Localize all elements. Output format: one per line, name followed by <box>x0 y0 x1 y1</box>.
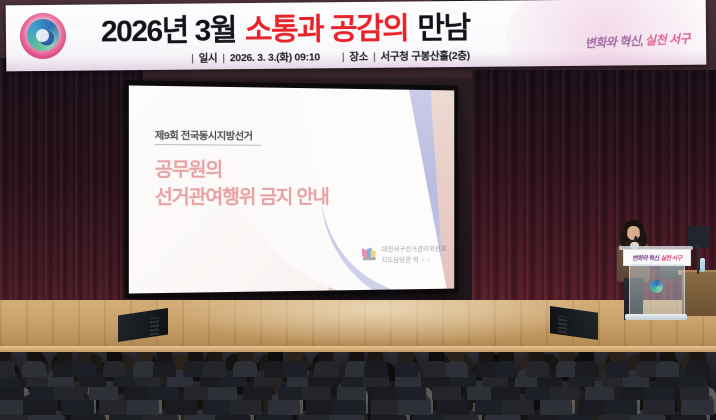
audience-member-shoulders <box>575 361 599 377</box>
slide-rule <box>155 144 261 146</box>
audience-member-shoulders <box>283 361 307 377</box>
audience-member-shoulders <box>0 361 15 377</box>
audience-member-shoulders <box>153 361 177 377</box>
banner-date-value: 2026. 3. 3.(화) 09:10 <box>230 49 320 65</box>
event-banner: 2026년 3월 소통과 공감의 만남 | 일시 | 2026. 3. 3.(화… <box>6 0 707 71</box>
slide-credit-person: 지도담당관 박 ○ ○ <box>381 254 446 265</box>
audience-member-shoulders <box>445 361 469 377</box>
audience-area <box>0 352 716 420</box>
audience-member-shoulders <box>233 361 257 377</box>
stage-equipment-case <box>688 226 710 248</box>
podium-sign-part1: 변화와 혁신, <box>632 253 659 262</box>
banner-slogan: 변화와 혁신, 실천 서구 <box>571 23 690 58</box>
audience-member-shoulders <box>314 361 338 377</box>
audience-member-shoulders <box>686 361 710 377</box>
slide-title: 공무원의 선거관여행위 금지 안내 <box>155 157 405 212</box>
audience-member-shoulders <box>656 361 680 377</box>
monitor-grill <box>150 317 159 336</box>
projection-screen-frame: 제9회 전국동시지방선거 공무원의 선거관여행위 금지 안내 대전서구선거관리위… <box>125 80 458 298</box>
banner-slogan-part1: 변화와 혁신, <box>584 31 643 51</box>
banner-divider: | <box>191 53 194 65</box>
banner-divider: | <box>342 51 345 63</box>
slide-title-line2: 선거관여행위 금지 안내 <box>155 185 405 213</box>
stage-curtain-left <box>0 58 143 330</box>
banner-subline: | 일시 | 2026. 3. 3.(화) 09:10 | 장소 | 서구청 구… <box>191 48 470 66</box>
banner-title-part-1: 2026년 3월 <box>101 5 236 50</box>
banner-divider: | <box>373 51 376 63</box>
water-bottle <box>700 258 705 272</box>
monitor-grill <box>558 315 567 334</box>
audience-member-shoulders <box>72 361 96 377</box>
audience-member-shoulders <box>364 361 388 377</box>
banner-divider: | <box>222 52 225 64</box>
stage-light-pool <box>170 300 590 346</box>
audience-member-shoulders <box>22 361 46 377</box>
audience-member-shoulders <box>395 361 419 377</box>
banner-title-part-2: 소통과 공감의 <box>245 3 409 49</box>
projection-screen: 제9회 전국동시지방선거 공무원의 선거관여행위 금지 안내 대전서구선거관리위… <box>129 85 454 293</box>
podium: 변화와 혁신, 실천 서구 <box>623 246 689 320</box>
banner-place-value: 서구청 구봉산홀(2층) <box>380 48 470 64</box>
audience-member-shoulders <box>606 361 630 377</box>
auditorium-scene: 제9회 전국동시지방선거 공무원의 선거관여행위 금지 안내 대전서구선거관리위… <box>0 0 716 420</box>
audience-member-shoulders <box>495 361 519 377</box>
podium-sign-part2: 실천 서구 <box>661 253 682 262</box>
slide-credit-org: 대전서구선거관리위원회 <box>381 243 446 253</box>
banner-title: 2026년 3월 소통과 공감의 만남 <box>101 4 571 49</box>
election-commission-logo-icon <box>361 246 378 261</box>
slide-title-line1: 공무원의 <box>155 157 405 185</box>
audience-member-shoulders <box>203 361 227 377</box>
audience-member-shoulders <box>525 361 549 377</box>
banner-slogan-part2: 실천 서구 <box>645 29 691 48</box>
banner-place-label: 장소 <box>349 49 368 64</box>
slide-kicker: 제9회 전국동시지방선거 <box>155 127 253 143</box>
banner-title-part-3: 만남 <box>417 3 470 47</box>
banner-date-label: 일시 <box>199 50 218 65</box>
podium-emblem-icon <box>650 280 663 293</box>
mic-stand <box>697 244 699 274</box>
audience-member-shoulders <box>103 361 127 377</box>
slide-credit: 대전서구선거관리위원회 지도담당관 박 ○ ○ <box>361 243 447 264</box>
seo-gu-emblem-icon <box>16 11 70 62</box>
